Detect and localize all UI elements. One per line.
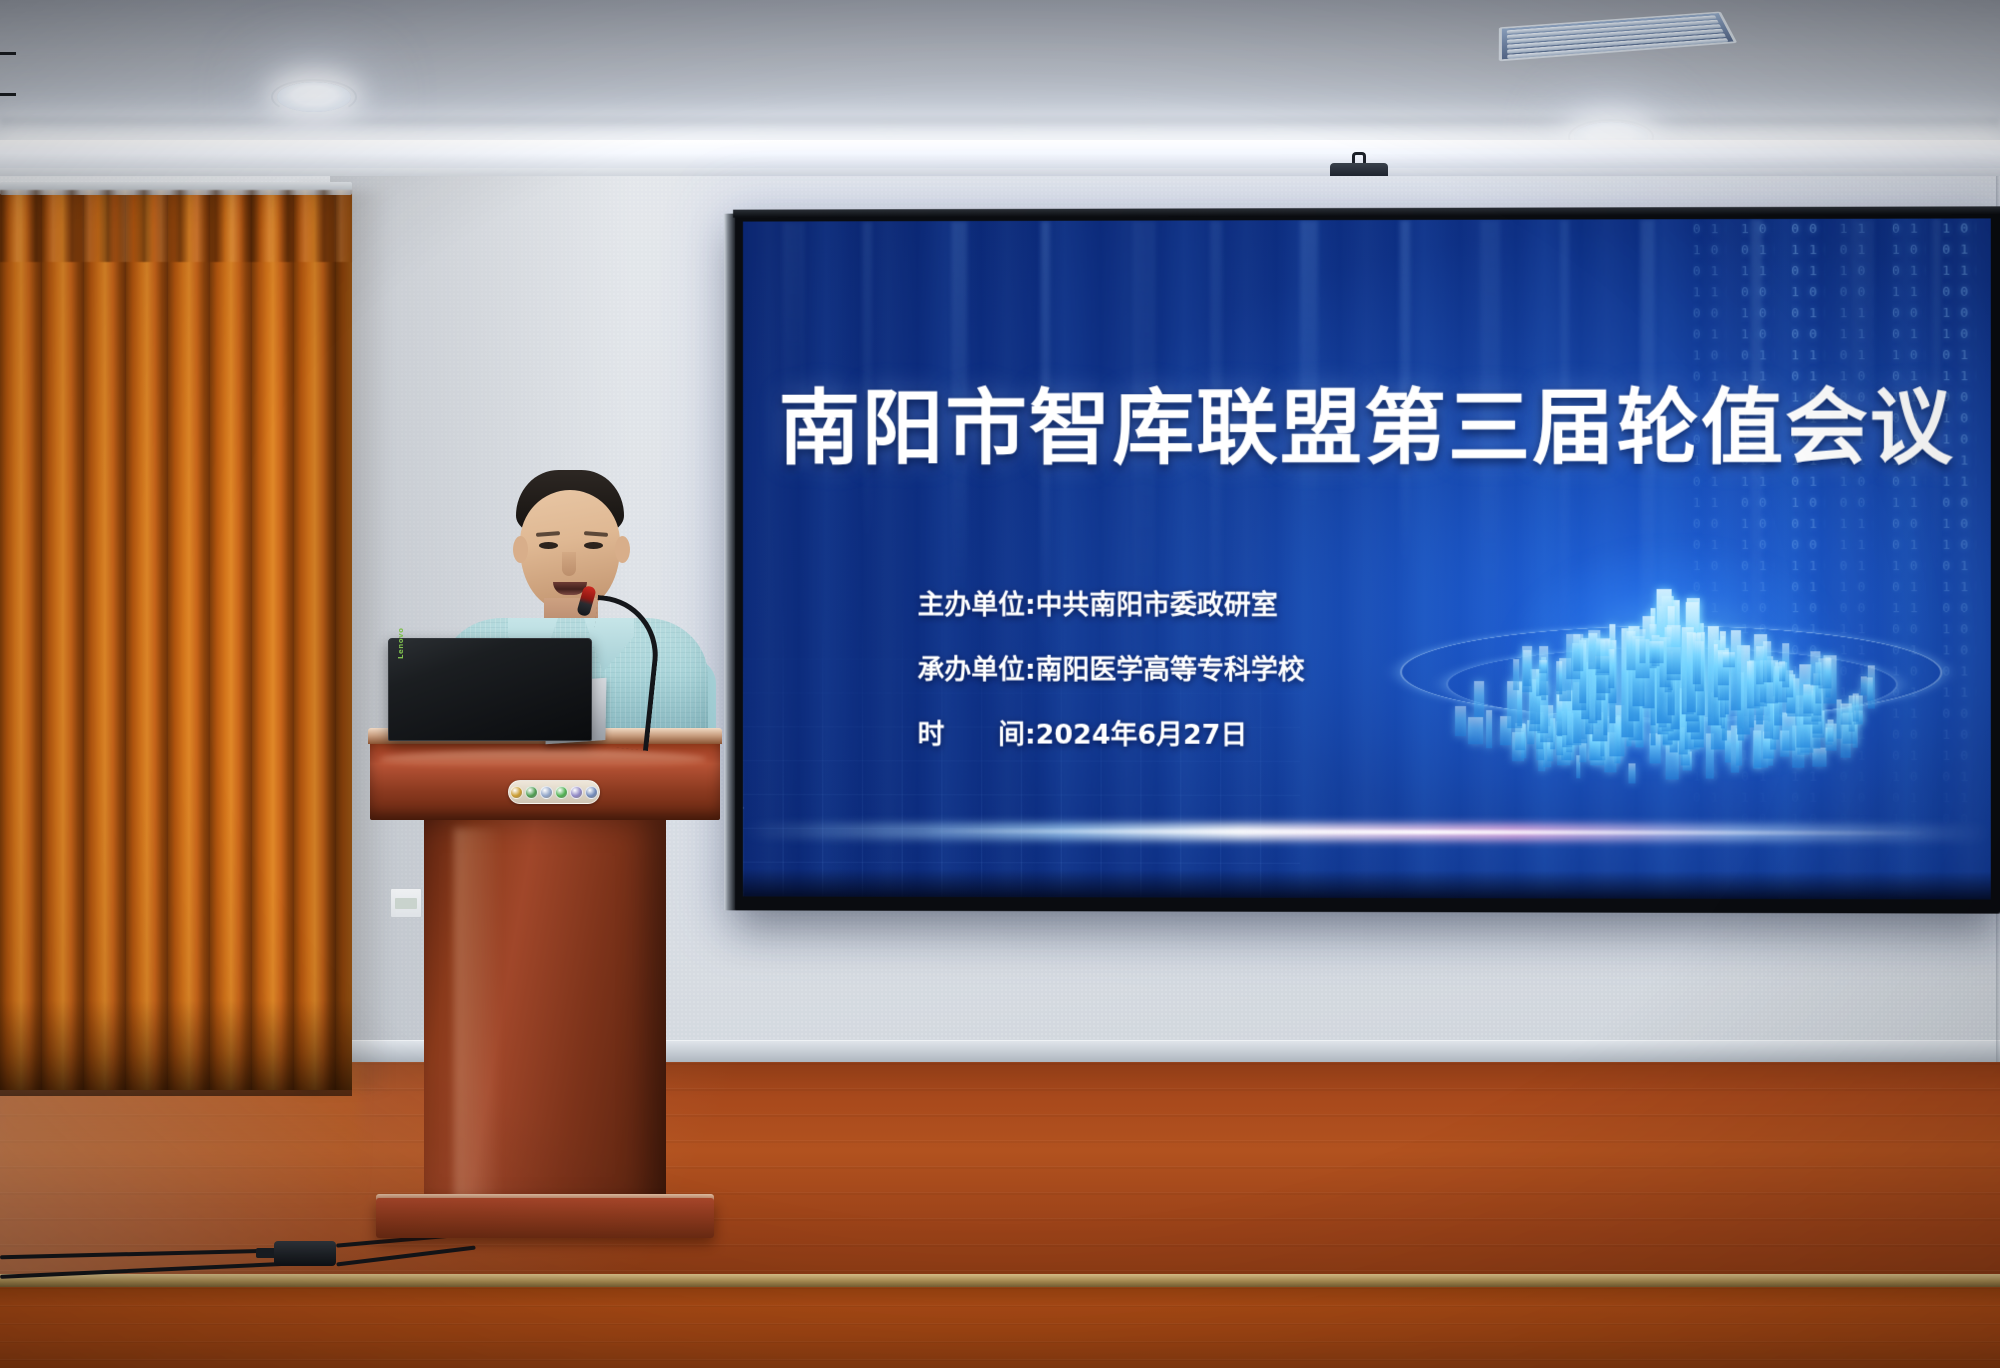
lectern-badge xyxy=(570,786,583,799)
screen-surface: 0 1 0 1 1 0 0 1 0 1 1 0 1 1 0 1 0 0 1 0 … xyxy=(743,218,1991,899)
lectern-column-sheen xyxy=(454,828,502,1202)
city-building xyxy=(1573,635,1583,672)
stage-front-grain xyxy=(0,1287,2000,1368)
city-building xyxy=(1779,661,1785,681)
city-building xyxy=(1810,652,1821,685)
city-building xyxy=(1513,660,1519,690)
presenter-eye xyxy=(584,542,603,549)
city-building xyxy=(1486,710,1492,748)
city-building xyxy=(1860,676,1866,695)
lectern-badge xyxy=(585,786,598,799)
digital-city-hologram xyxy=(1390,470,1952,801)
linear-light-cove xyxy=(0,140,2000,170)
laptop-brand-logo: Lenovo xyxy=(397,628,405,659)
ceiling-downlight xyxy=(277,82,351,112)
city-building xyxy=(1782,713,1795,751)
slide-title: 南阳市智库联盟第三届轮值会议 xyxy=(743,387,1991,470)
city-building xyxy=(1803,684,1813,713)
city-building xyxy=(1556,661,1562,694)
city-building xyxy=(1468,717,1483,744)
laptop-lid: Lenovo xyxy=(388,638,592,741)
screen-bottom-gradient xyxy=(743,869,1991,900)
city-building xyxy=(1840,703,1851,724)
lectern-logo-badges xyxy=(508,780,600,804)
stage-edge-trim xyxy=(0,1274,2000,1287)
conference-photo-scene: 0 1 0 1 1 0 0 1 0 1 1 0 1 1 0 1 0 0 1 0 … xyxy=(0,0,2000,1368)
lectern-badge xyxy=(510,786,523,799)
city-building xyxy=(1693,633,1701,684)
city-building xyxy=(1867,678,1873,701)
cable-plug xyxy=(256,1248,276,1258)
slide-line-date: 时 间:2024年6月27日 xyxy=(918,721,1305,748)
city-building xyxy=(1722,652,1735,667)
city-building xyxy=(1588,630,1601,669)
city-building xyxy=(1731,630,1741,711)
city-building xyxy=(1853,694,1859,722)
city-building xyxy=(1474,681,1484,717)
stage-front-panel xyxy=(0,1287,2000,1368)
city-building xyxy=(1626,631,1636,670)
city-building xyxy=(1456,706,1466,736)
city-building xyxy=(1523,651,1531,686)
city-building xyxy=(1539,660,1548,673)
presenter-eye xyxy=(539,542,558,549)
led-presentation-screen[interactable]: 0 1 0 1 1 0 0 1 0 1 1 0 1 1 0 1 0 0 1 0 … xyxy=(733,210,2000,913)
slide-line-organizer: 主办单位:中共南阳市委政研室 xyxy=(918,592,1305,619)
presenter-ear xyxy=(615,536,630,563)
power-adapter-brick xyxy=(274,1241,336,1266)
presenter-nose xyxy=(562,552,576,576)
city-building xyxy=(1828,720,1834,742)
lectern-base xyxy=(376,1198,714,1238)
city-building xyxy=(1639,629,1645,663)
curtain-pleat-heading xyxy=(0,190,352,262)
city-building xyxy=(1629,763,1636,784)
curtain-hem-shadow xyxy=(0,1000,352,1096)
presenter-ear xyxy=(513,536,528,563)
wooden-lectern xyxy=(368,728,722,1266)
ceiling-seam xyxy=(0,118,2000,134)
laptop-closed-lid[interactable]: Lenovo xyxy=(388,638,592,743)
city-building xyxy=(1812,747,1827,766)
slide-subtitle-block: 主办单位:中共南阳市委政研室 承办单位:南阳医学高等专科学校 时 间:2024年… xyxy=(918,592,1305,787)
lectern-badge xyxy=(555,786,568,799)
city-building xyxy=(1763,641,1771,682)
stage-curtain xyxy=(0,190,352,1090)
slide-line-host: 承办单位:南阳医学高等专科学校 xyxy=(918,657,1305,684)
laptop-cable-loop xyxy=(0,52,16,96)
lectern-badge xyxy=(525,786,538,799)
city-building xyxy=(1666,625,1681,674)
city-building xyxy=(1650,641,1664,663)
lectern-badge xyxy=(540,786,553,799)
